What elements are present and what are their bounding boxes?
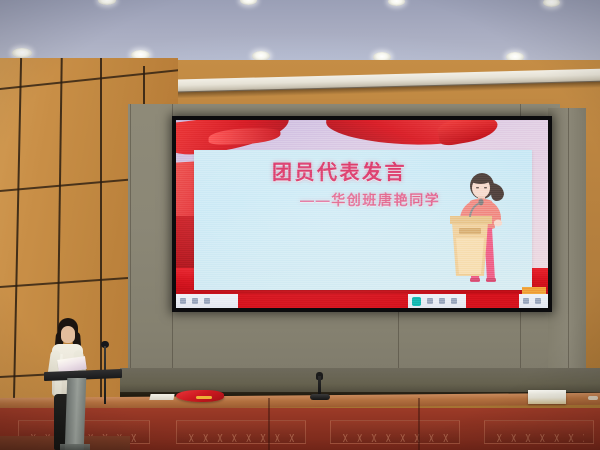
red-cloth-detail xyxy=(196,396,212,399)
panel-seam xyxy=(12,58,22,450)
desk-microphone-stem xyxy=(318,376,321,396)
paper-sheet xyxy=(149,394,174,400)
small-desk-object xyxy=(588,396,598,400)
girl-at-podium-illustration xyxy=(444,168,518,286)
slide-red-overlay xyxy=(466,294,519,308)
table-seam xyxy=(268,398,270,450)
app-icon[interactable] xyxy=(204,298,210,304)
slide-subtitle: ——华创班唐艳同学 xyxy=(300,190,440,210)
red-ribbon-fold xyxy=(208,128,280,145)
panel-seam xyxy=(0,69,178,90)
app-icon[interactable] xyxy=(451,298,457,304)
table-seam xyxy=(418,398,420,450)
speaker-face xyxy=(61,326,75,343)
table-panel-trim xyxy=(494,434,584,442)
app-icon[interactable] xyxy=(192,298,198,304)
table-panel-trim xyxy=(340,434,448,442)
slide-orange-accent xyxy=(522,287,546,294)
table-panel-trim xyxy=(186,434,294,442)
panel-seam xyxy=(130,104,131,404)
wps-icon[interactable] xyxy=(412,297,421,306)
panel-seam xyxy=(100,58,102,450)
app-icon[interactable] xyxy=(427,298,433,304)
red-ribbon-decoration xyxy=(436,120,499,147)
photo-scene: 团员代表发言 ——华创班唐艳同学 xyxy=(0,0,600,450)
slide-red-overlay xyxy=(238,294,408,308)
lectern-column xyxy=(65,378,87,450)
panel-seam xyxy=(568,108,569,402)
taskbar-group-left[interactable] xyxy=(176,294,246,308)
desk-microphone-base xyxy=(310,394,330,400)
taskbar-group-center[interactable] xyxy=(408,294,474,308)
slide-title: 团员代表发言 xyxy=(272,156,407,185)
taskbar-group-clock[interactable] xyxy=(519,294,548,308)
clock-icon[interactable] xyxy=(535,298,541,304)
app-icon[interactable] xyxy=(439,298,445,304)
ceiling-downlight xyxy=(12,48,32,58)
network-icon[interactable] xyxy=(523,298,529,304)
white-box-lid xyxy=(528,390,566,395)
app-icon[interactable] xyxy=(180,298,186,304)
lectern-base xyxy=(60,444,90,450)
center-panel-wall-right xyxy=(548,108,586,402)
desktop-taskbar[interactable] xyxy=(176,294,548,308)
led-screen[interactable]: 团员代表发言 ——华创班唐艳同学 xyxy=(176,120,548,308)
